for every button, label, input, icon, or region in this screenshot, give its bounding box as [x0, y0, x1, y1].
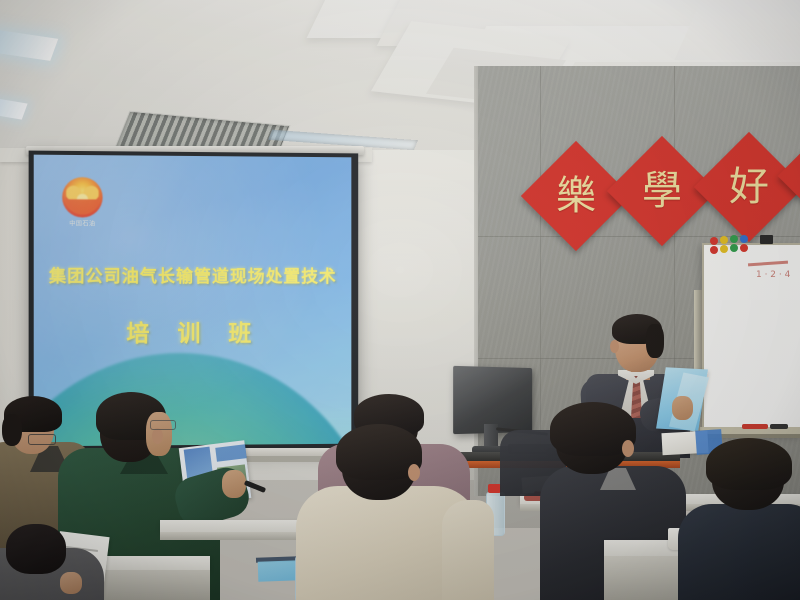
attendee-hair: [2, 414, 22, 446]
logo-caption: 中国石油: [60, 218, 105, 227]
glasses-icon: [150, 420, 176, 430]
placard-character: 樂: [537, 157, 615, 235]
magnet-icon: [740, 235, 748, 243]
magnet-icon: [710, 237, 718, 245]
conference-room-photo: 樂 學 好 之 1 · 2 · 4 中国石油: [0, 0, 800, 600]
placard-character: 之: [790, 146, 800, 206]
calligraphy-placard: 好: [694, 132, 800, 242]
placard-character: 學: [623, 152, 701, 230]
marker-icon: [742, 424, 768, 429]
magnet-icon: [730, 244, 738, 252]
projection-screen: 中国石油 集团公司油气长输管道现场处置技术 培 训 班: [29, 151, 359, 452]
attendee-shoulder: [442, 500, 494, 600]
attendee-navy-suit: [678, 504, 800, 600]
placard-character: 好: [710, 148, 788, 226]
magnet-icon: [720, 236, 728, 244]
attendee-ear: [152, 428, 163, 444]
attendee-hair: [706, 438, 792, 490]
marker-icon: [770, 424, 788, 429]
magnet-icon: [740, 244, 748, 252]
presenter-hand: [672, 396, 693, 420]
presenter-hair: [646, 324, 664, 358]
slide-subtitle: 培 训 班: [34, 314, 352, 349]
magnet-icon: [720, 245, 728, 253]
attendee-head: [6, 524, 66, 574]
presenter-ear: [610, 340, 619, 353]
whiteboard-note: 1 · 2 · 4: [756, 270, 792, 279]
glasses-icon: [28, 434, 56, 445]
magnet-icon: [710, 246, 718, 254]
attendee-ear: [622, 440, 634, 457]
projected-slide: 中国石油 集团公司油气长输管道现场处置技术 培 训 班: [34, 155, 352, 447]
attendee-hand: [222, 470, 246, 498]
attendee-ear: [408, 464, 420, 481]
cnpc-logo: 中国石油: [60, 177, 105, 230]
whiteboard-clip-icon: [760, 235, 773, 244]
slide-title: 集团公司油气长输管道现场处置技术: [34, 262, 352, 287]
magnet-icon: [730, 235, 738, 243]
attendee-hand: [60, 572, 82, 594]
logo-petals-icon: [66, 179, 98, 199]
